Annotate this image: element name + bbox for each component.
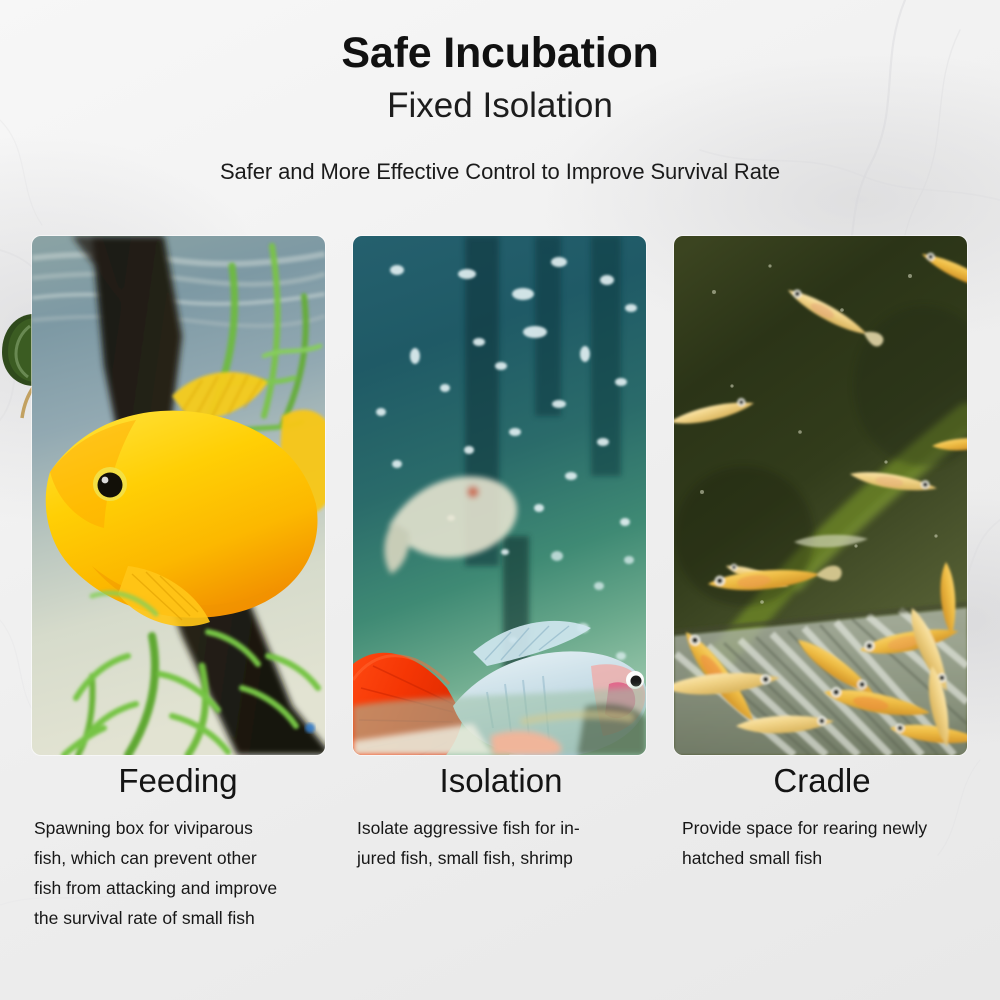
caption-body-isolation: Isolate aggressive fish for in- jured fi… bbox=[341, 800, 661, 873]
page-subtitle: Fixed Isolation bbox=[0, 76, 1000, 126]
page-title: Safe Incubation bbox=[0, 0, 1000, 76]
cradle-photo[interactable] bbox=[674, 236, 967, 755]
caption-line: jured fish, small fish, shrimp bbox=[357, 843, 653, 873]
caption-line: the survival rate of small fish bbox=[34, 903, 330, 933]
caption-column-cradle: Cradle Provide space for rearing newly h… bbox=[662, 763, 982, 873]
caption-line: Isolate aggressive fish for in- bbox=[357, 813, 653, 843]
caption-column-isolation: Isolation Isolate aggressive fish for in… bbox=[341, 763, 661, 873]
caption-body-feeding: Spawning box for viviparous fish, which … bbox=[18, 800, 338, 933]
caption-line: Spawning box for viviparous bbox=[34, 813, 330, 843]
caption-column-feeding: Feeding Spawning box for viviparous fish… bbox=[18, 763, 338, 933]
page-tagline: Safer and More Effective Control to Impr… bbox=[0, 126, 1000, 185]
photo-panel-row bbox=[0, 236, 1000, 756]
isolation-photo[interactable] bbox=[353, 236, 646, 755]
caption-body-cradle: Provide space for rearing newly hatched … bbox=[662, 800, 982, 873]
caption-line: Provide space for rearing newly bbox=[682, 813, 974, 843]
caption-title-isolation: Isolation bbox=[341, 763, 661, 800]
feeding-photo[interactable] bbox=[32, 236, 325, 755]
caption-title-cradle: Cradle bbox=[662, 763, 982, 800]
caption-line: fish from attacking and improve bbox=[34, 873, 330, 903]
infographic-page: Safe Incubation Fixed Isolation Safer an… bbox=[0, 0, 1000, 1000]
header: Safe Incubation Fixed Isolation Safer an… bbox=[0, 0, 1000, 185]
caption-line: fish, which can prevent other bbox=[34, 843, 330, 873]
caption-line: hatched small fish bbox=[682, 843, 974, 873]
caption-title-feeding: Feeding bbox=[18, 763, 338, 800]
